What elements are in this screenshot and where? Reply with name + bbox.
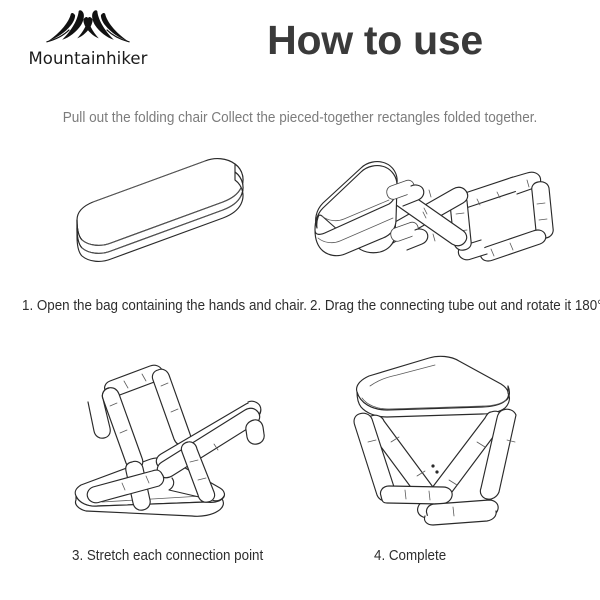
step-1-illustration [55,142,295,282]
unfolding-frame-illustration [305,142,595,282]
step-4-caption: 4. Complete [374,548,446,564]
step-1-caption: 1. Open the bag containing the hands and… [22,298,307,314]
folded-chair-bag-illustration [55,142,295,282]
step-4-illustration [325,350,560,530]
instruction-sheet: Mountainhiker How to use Pull out the fo… [0,0,600,600]
brand-name: Mountainhiker [28,51,147,68]
mountain-peaks-icon [45,8,131,50]
step-2-caption: 2. Drag the connecting tube out and rota… [310,298,600,314]
brand-logo: Mountainhiker [8,8,168,80]
page-subtitle: Pull out the folding chair Collect the p… [21,110,579,126]
step-3-caption: 3. Stretch each connection point [72,548,263,564]
step-3-illustration [62,350,307,530]
page-title: How to use [175,18,575,63]
completed-stool-illustration [325,350,560,530]
stretched-x-frame-illustration [62,350,307,530]
step-2-illustration [305,142,595,282]
